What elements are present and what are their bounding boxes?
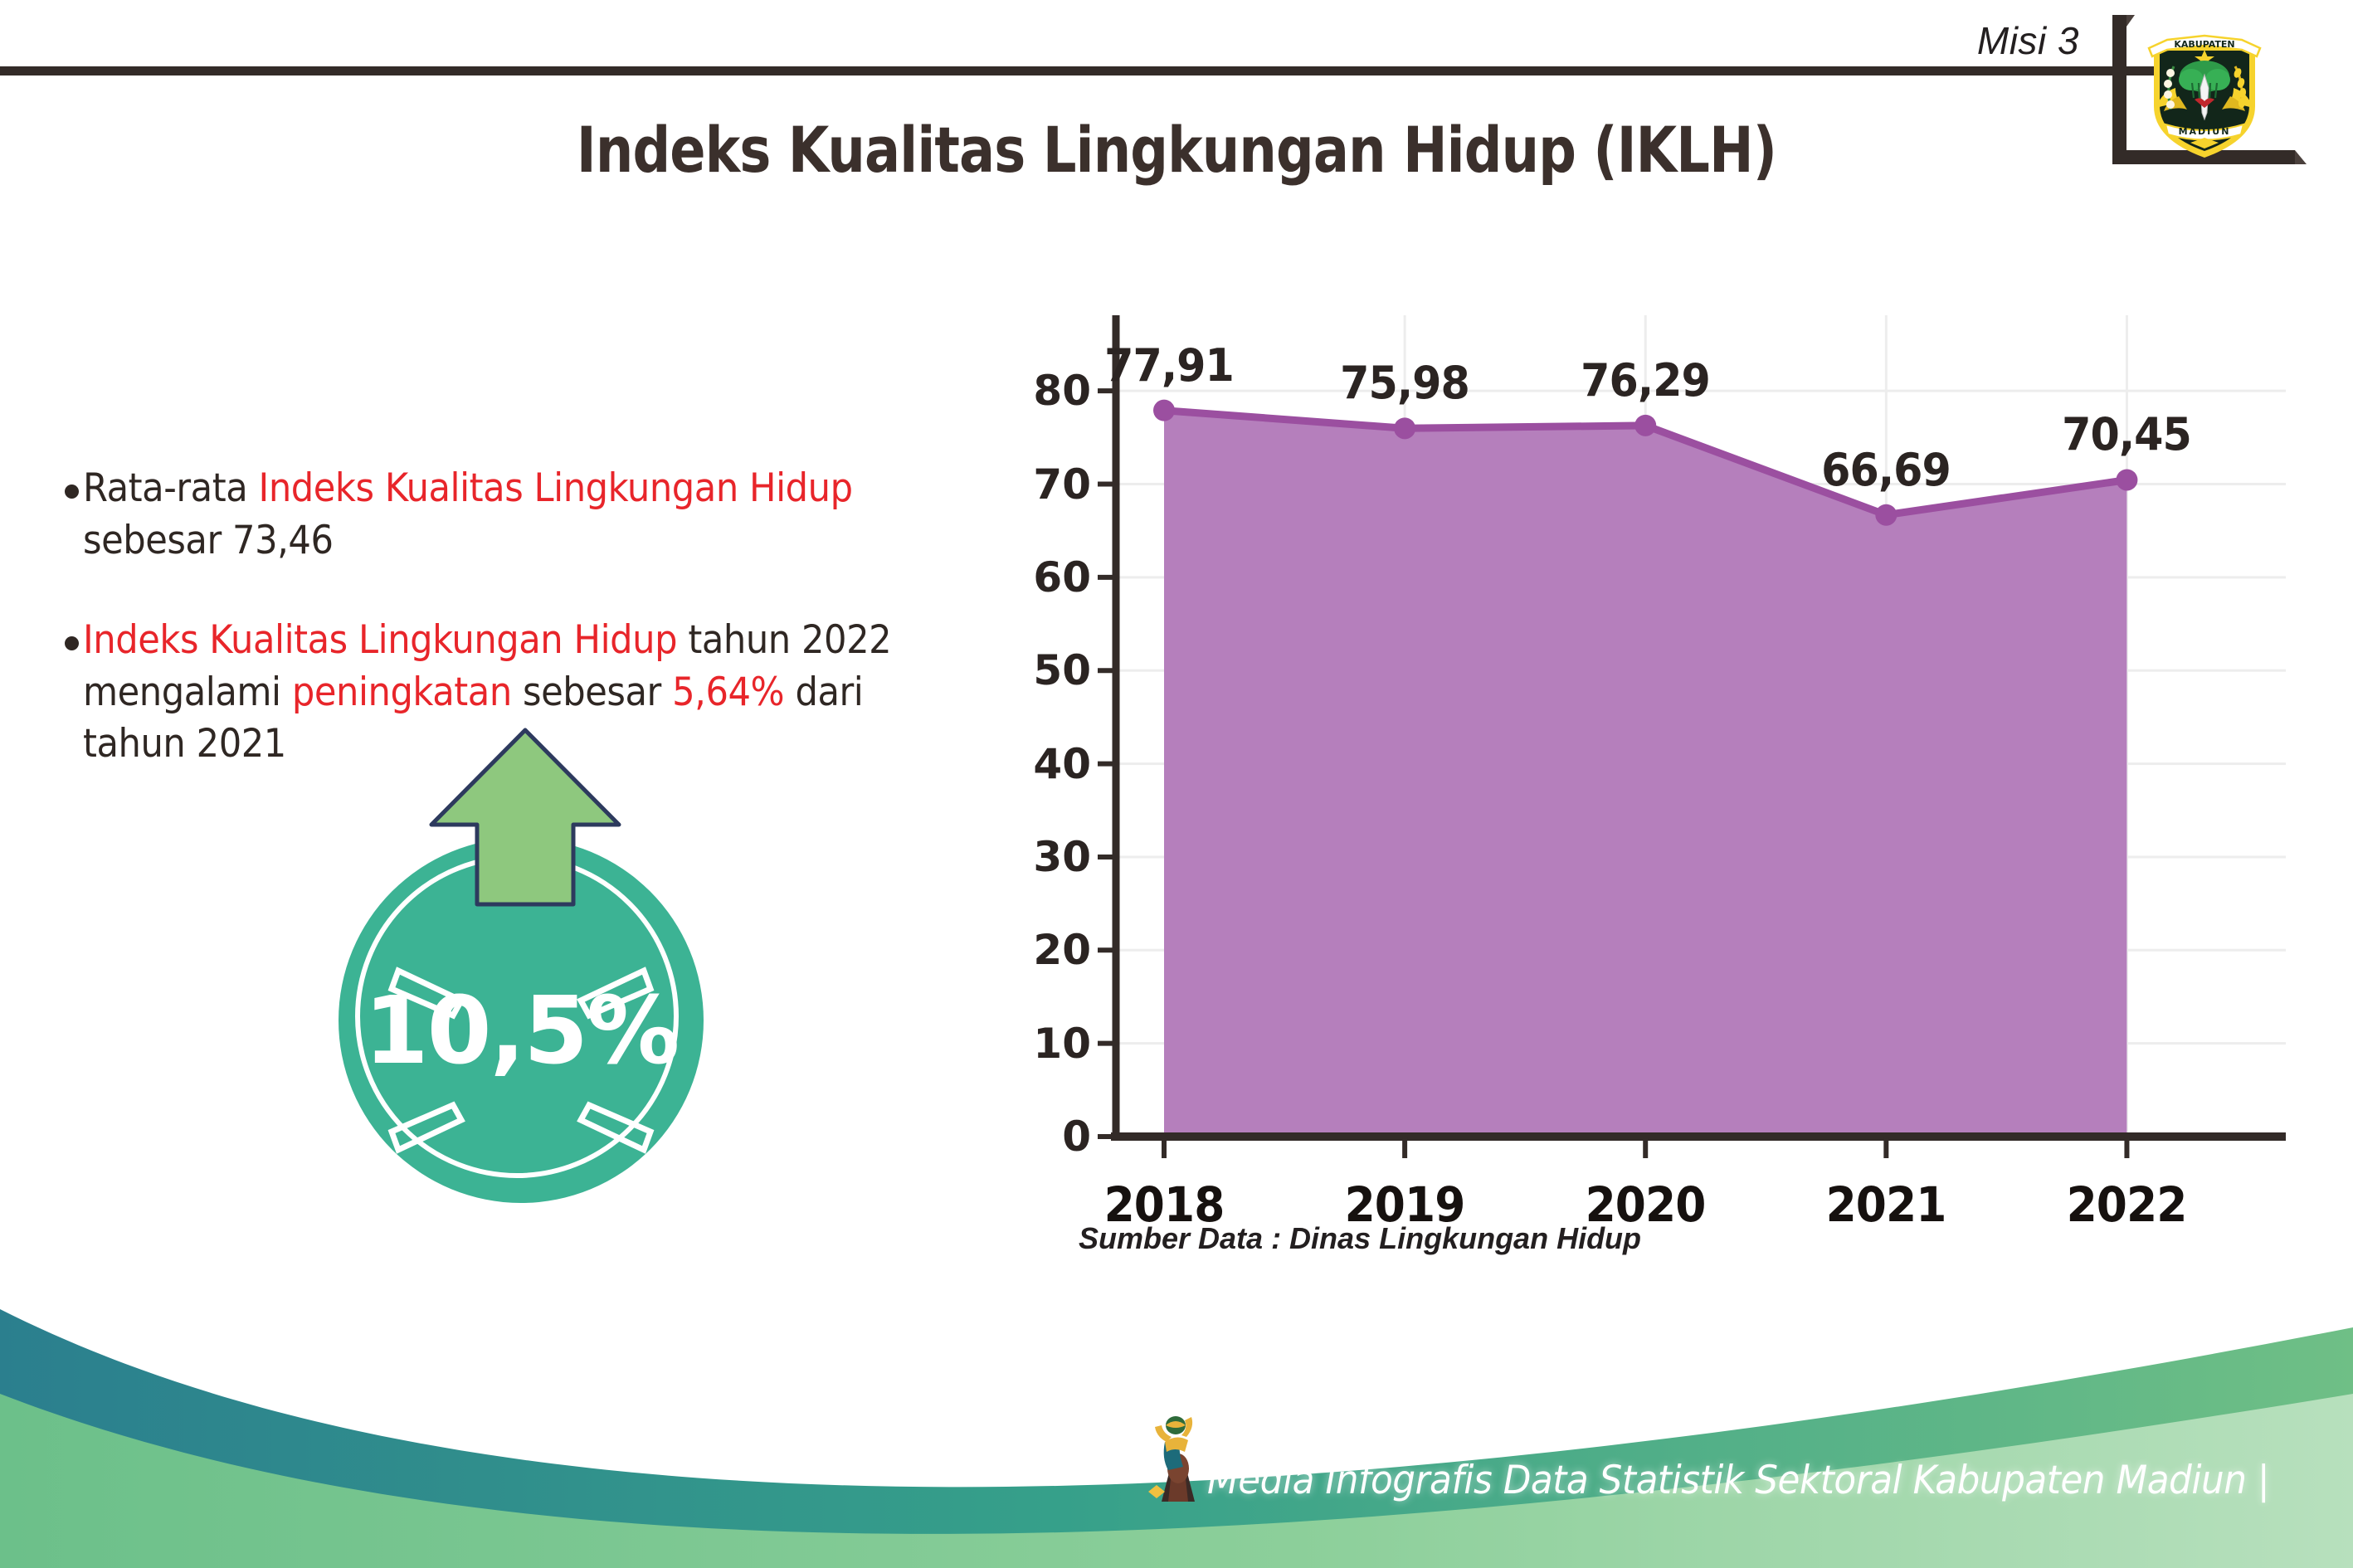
increase-stat-badge: 10,5% — [324, 796, 722, 1195]
chart-y-tick-label: 30 — [991, 833, 1091, 881]
chart-y-tick-label: 20 — [991, 926, 1091, 974]
chart-value-label: 70,45 — [2025, 408, 2228, 460]
bullet-dot-icon — [65, 636, 79, 650]
page-title: Indeks Kualitas Lingkungan Hidup (IKLH) — [188, 113, 2165, 187]
chart-value-label: 77,91 — [1068, 339, 1270, 392]
chart-value-label: 76,29 — [1544, 354, 1746, 407]
up-arrow-icon — [421, 723, 629, 931]
chart-point-marker — [1875, 504, 1897, 526]
chart-point-marker — [1634, 415, 1656, 436]
chart-y-tick-label: 50 — [991, 646, 1091, 694]
footer-caption: Media Infografis Data Statistik Sektoral… — [1207, 1458, 2269, 1503]
svg-text:KABUPATEN: KABUPATEN — [2174, 39, 2234, 50]
misi-label: Misi 3 — [1977, 18, 2079, 63]
iklh-area-chart: 01020304050607080 20182019202020212022 7… — [991, 299, 2286, 1220]
highlight-phrase: Indeks Kualitas Lingkungan Hidup — [259, 465, 853, 511]
chart-y-tick-label: 0 — [991, 1113, 1091, 1161]
chart-point-marker — [1153, 400, 1175, 421]
plain-phrase: sebesar 73,46 — [83, 518, 334, 563]
header-divider-rule — [0, 66, 2187, 75]
plain-phrase: Rata-rata — [83, 465, 259, 511]
chart-value-label: 66,69 — [1785, 444, 1987, 496]
svg-text:MADIUN: MADIUN — [2179, 126, 2231, 137]
bracket-vertical-bevel — [2126, 15, 2135, 27]
plain-phrase: sebesar — [512, 670, 672, 715]
chart-y-tick-label: 60 — [991, 553, 1091, 601]
highlight-phrase: peningkatan — [292, 670, 512, 715]
chart-y-tick-label: 70 — [991, 460, 1091, 509]
bracket-horizontal-bevel — [2295, 150, 2307, 164]
bullet-dot-icon — [65, 485, 79, 499]
chart-x-tick-label: 2021 — [1802, 1176, 1970, 1233]
chart-y-tick-label: 40 — [991, 740, 1091, 788]
badge-percent-value: 10,5% — [324, 977, 719, 1085]
chart-x-tick-label: 2022 — [2043, 1176, 2210, 1233]
highlight-phrase: 5,64% — [672, 670, 784, 715]
highlight-phrase: Indeks Kualitas Lingkungan Hidup — [83, 617, 677, 663]
chart-value-label: 75,98 — [1303, 357, 1506, 409]
chart-point-marker — [2116, 469, 2137, 490]
chart-y-tick-label: 10 — [991, 1020, 1091, 1068]
chart-point-marker — [1394, 417, 1415, 439]
bullet-text: Rata-rata Indeks Kualitas Lingkungan Hid… — [83, 463, 899, 567]
chart-area-fill — [1164, 411, 2126, 1137]
bullet-item: Rata-rata Indeks Kualitas Lingkungan Hid… — [65, 463, 969, 567]
chart-source-note: Sumber Data : Dinas Lingkungan Hidup — [1079, 1221, 1641, 1256]
